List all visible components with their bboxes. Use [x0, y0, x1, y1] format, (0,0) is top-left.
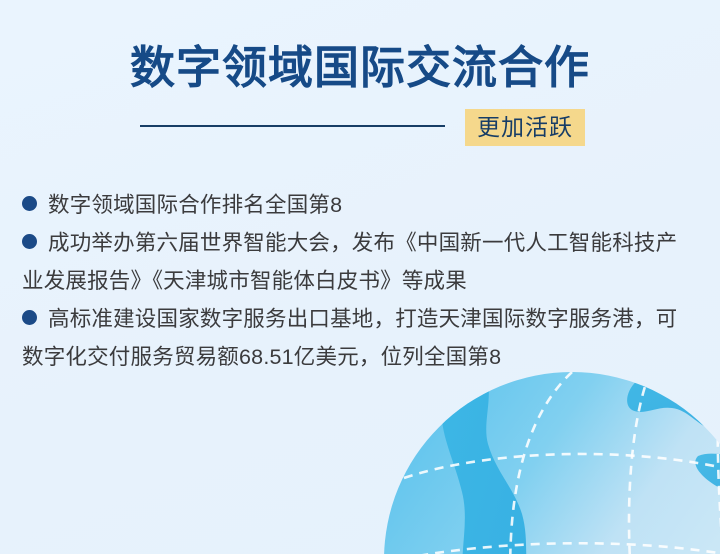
page-title: 数字领域国际交流合作 [0, 40, 720, 96]
bullet-list: 数字领域国际合作排名全国第8 成功举办第六届世界智能大会，发布《中国新一代人工智… [22, 186, 698, 376]
globe-icon [382, 370, 720, 554]
title-divider [140, 125, 445, 127]
slide-canvas: 数字领域国际交流合作 更加活跃 数字领域国际合作排名全国第8 成功举办第六届世界… [0, 0, 720, 554]
list-item-text: 高标准建设国家数字服务出口基地，打造天津国际数字服务港，可数字化交付服务贸易额6… [22, 307, 677, 369]
list-item: 高标准建设国家数字服务出口基地，打造天津国际数字服务港，可数字化交付服务贸易额6… [22, 300, 698, 376]
bullet-dot-icon [22, 234, 37, 249]
list-item: 成功举办第六届世界智能大会，发布《中国新一代人工智能科技产业发展报告》《天津城市… [22, 224, 698, 300]
list-item-text: 成功举办第六届世界智能大会，发布《中国新一代人工智能科技产业发展报告》《天津城市… [22, 231, 677, 293]
title-underline-row: 更加活跃 [0, 106, 720, 150]
header: 数字领域国际交流合作 更加活跃 [0, 40, 720, 150]
status-badge: 更加活跃 [465, 109, 585, 146]
list-item: 数字领域国际合作排名全国第8 [22, 186, 698, 224]
bullet-dot-icon [22, 196, 37, 211]
bullet-dot-icon [22, 310, 37, 325]
list-item-text: 数字领域国际合作排名全国第8 [48, 193, 342, 217]
